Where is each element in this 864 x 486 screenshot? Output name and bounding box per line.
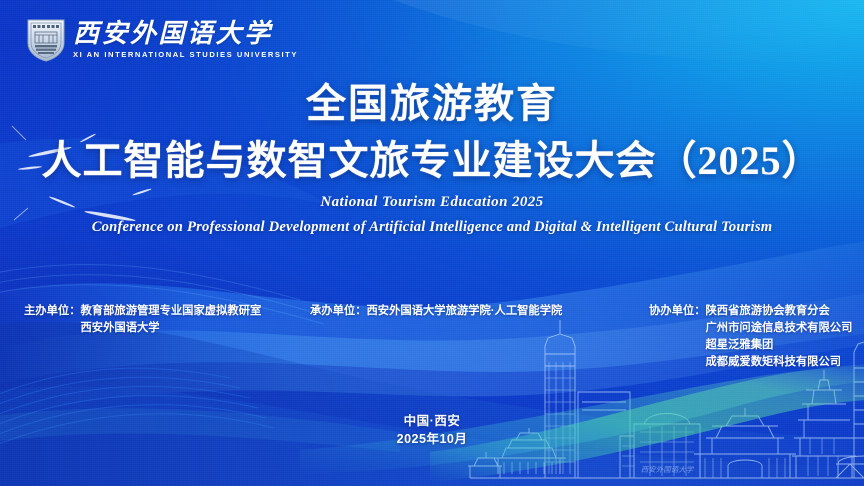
poster-subtitle-en-primary: National Tourism Education 2025 <box>0 194 864 211</box>
organizer-value: 成都威爱数矩科技有限公司 <box>706 354 853 371</box>
organizer-group-supporter: 协办单位： 陕西省旅游协会教育分会 广州市问途信息技术有限公司 超星泛雅集团 成… <box>649 303 852 371</box>
poster-canvas: 西安外国语大学 <box>0 0 864 486</box>
poster-title-line-1: 全国旅游教育 <box>0 82 864 125</box>
organizer-group-host: 主办单位： 教育部旅游管理专业国家虚拟教研室 西安外国语大学 <box>24 303 261 337</box>
organizers-section: 主办单位： 教育部旅游管理专业国家虚拟教研室 西安外国语大学 承办单位： 西安外… <box>0 303 864 383</box>
organizer-group-organizer: 承办单位： 西安外国语大学旅游学院·人工智能学院 <box>310 303 562 320</box>
organizer-value: 超星泛雅集团 <box>706 337 853 354</box>
skyline-building-wordmark: 西安外国语大学 <box>641 465 695 474</box>
organizer-value: 西安外国语大学旅游学院·人工智能学院 <box>367 303 563 320</box>
organizer-label-organizer: 承办单位： <box>310 303 367 320</box>
footer-location-date: 中国·西安 2025年10月 <box>0 412 864 448</box>
organizer-label-supporter: 协办单位： <box>649 303 706 320</box>
logo-name-en: XI AN INTERNATIONAL STUDIES UNIVERSITY <box>73 51 298 59</box>
xisu-shield-crest-icon <box>26 17 66 63</box>
university-logo: 西安外国语大学 XI AN INTERNATIONAL STUDIES UNIV… <box>26 17 298 63</box>
footer-date: 2025年10月 <box>0 430 864 448</box>
organizer-value: 教育部旅游管理专业国家虚拟教研室 <box>81 303 262 320</box>
title-block: 全国旅游教育 人工智能与数智文旅专业建设大会（2025） National To… <box>0 82 864 236</box>
poster-title-line-2: 人工智能与数智文旅专业建设大会（2025） <box>0 139 864 182</box>
organizer-value: 广州市问途信息技术有限公司 <box>706 320 853 337</box>
organizer-label-host: 主办单位： <box>24 303 81 320</box>
organizer-value: 西安外国语大学 <box>81 320 262 337</box>
footer-place: 中国·西安 <box>0 412 864 430</box>
logo-name-cn: 西安外国语大学 <box>73 21 298 47</box>
organizer-value: 陕西省旅游协会教育分会 <box>706 303 853 320</box>
poster-subtitle-en-secondary: Conference on Professional Development o… <box>0 219 864 236</box>
